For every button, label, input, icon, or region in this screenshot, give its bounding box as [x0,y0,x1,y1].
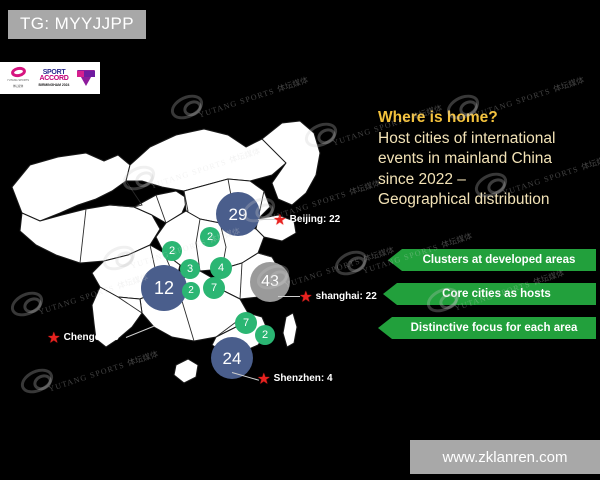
china-map-svg [0,95,372,415]
map-bubble-29-0: 29 [216,192,260,236]
city-label-beijing: ★Beijing: 22 [274,213,340,226]
banner-distinctive-focus-for-each-area: Distinctive focus for each area [378,317,596,339]
star-icon: ★ [48,331,60,344]
headline-question: Where is home? [378,108,596,129]
headline-block: Where is home? Host cities of internatio… [378,108,596,211]
city-label-chengdu: ★Chengdu: 6 [48,331,119,344]
star-icon: ★ [300,290,312,303]
city-label-text: shanghai: 22 [316,291,377,302]
ring-icon [10,66,27,79]
map-bubble-7-10: 7 [235,312,257,334]
slide-canvas: 2943122423472272 ★Beijing: 22★shanghai: … [0,0,600,480]
map-bubble-2-9: 2 [162,241,182,261]
banner-clusters-at-developed-areas: Clusters at developed areas [388,249,596,271]
banner-core-cities-as-hosts: Core cities as hosts [383,283,596,305]
logo2-line2: ACCORD [40,75,69,82]
city-label-shanghai: ★shanghai: 22 [300,290,377,303]
map-bubble-7-7: 7 [203,277,225,299]
tg-tag-overlay: TG: MYYJJPP [8,10,146,39]
logo-strip: YUTANG SPORTS 体坛媒体 SPORT ACCORD BIRMINGH… [0,62,100,94]
site-watermark-bar: www.zklanren.com [410,440,600,474]
map-bubble-2-8: 2 [182,282,200,300]
watermark-brand-cn: 体坛媒体 [276,75,309,93]
star-icon: ★ [258,372,270,385]
china-map [0,95,372,415]
city-label-shenzhen: ★Shenzhen: 4 [258,372,333,385]
city-label-text: Shenzhen: 4 [274,373,333,384]
watermark-brand-cn: 体坛媒体 [552,75,585,93]
headline-line-4: since 2022 – [378,170,596,191]
gem-top-icon [77,71,95,77]
star-icon: ★ [274,213,286,226]
headline-line-3: events in mainland China [378,149,596,170]
map-bubble-3-5: 3 [180,259,200,279]
gem-logo-icon [75,70,97,86]
logo1-line2: 体坛媒体 [13,85,23,89]
map-bubble-2-11: 2 [255,325,275,345]
sport-accord-logo: SPORT ACCORD BIRMINGHAM 2024 [35,69,73,87]
city-label-text: Chengdu: 6 [64,332,119,343]
logo1-line1: YUTANG SPORTS [7,79,29,83]
headline-line-5: Geographical distribution [378,190,596,211]
map-bubble-2-4: 2 [200,227,220,247]
city-label-text: Beijing: 22 [290,214,341,225]
watermark-brand-cn: 体坛媒体 [440,231,473,249]
logo2-line3: BIRMINGHAM 2024 [39,83,70,87]
map-bubble-4-6: 4 [210,257,232,279]
leader-line-shanghai [278,296,300,297]
headline-line-2: Host cities of international [378,129,596,150]
yutang-sports-logo: YUTANG SPORTS 体坛媒体 [3,67,33,89]
